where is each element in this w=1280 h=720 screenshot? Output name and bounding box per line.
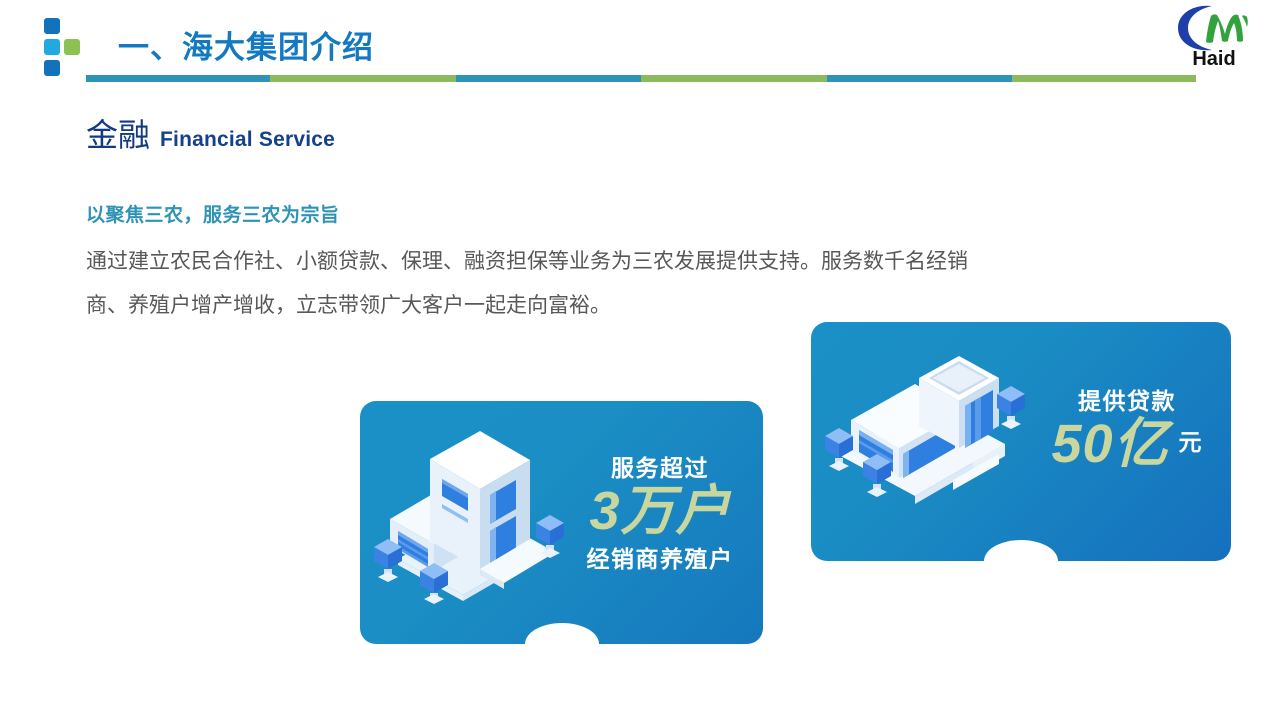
node-cube-left bbox=[374, 539, 402, 582]
card-loans-top-label: 提供贷款 bbox=[1027, 382, 1227, 416]
node-cube-left bbox=[825, 428, 853, 471]
card-dealers-text: 服务超过 3万户 经销商养殖户 bbox=[562, 449, 758, 574]
header-rule-segment-6 bbox=[1012, 75, 1196, 82]
stat-card-loans: 提供贷款 50亿元 bbox=[811, 322, 1231, 561]
isometric-tall-building-illustration bbox=[368, 419, 578, 604]
decorative-square-cluster bbox=[43, 18, 89, 76]
card-loans-number-value: 50亿 bbox=[1051, 414, 1168, 474]
square-bottom-icon bbox=[44, 60, 60, 76]
header-divider-rule bbox=[86, 75, 1196, 82]
square-top-icon bbox=[44, 18, 60, 34]
card-loans-notch bbox=[984, 540, 1058, 561]
card-dealers-bottom-label: 经销商养殖户 bbox=[562, 540, 758, 574]
header-rule-segment-3 bbox=[456, 75, 641, 82]
square-mid-right-icon bbox=[64, 39, 80, 55]
section-heading: 金融 Financial Service bbox=[86, 110, 335, 156]
body-lede: 以聚焦三农，服务三农为宗旨 bbox=[86, 200, 340, 227]
header-rule-segment-5 bbox=[827, 75, 1012, 82]
header-rule-segment-2 bbox=[270, 75, 456, 82]
body-paragraph: 通过建立农民合作社、小额贷款、保理、融资担保等业务为三农发展提供支持。服务数千名… bbox=[86, 240, 1126, 328]
node-cube-bottom bbox=[420, 563, 448, 604]
card-loans-number: 50亿元 bbox=[1027, 416, 1227, 473]
header-rule-segment-1 bbox=[86, 75, 270, 82]
page-header: 一、海大集团介绍 Haid bbox=[0, 0, 1280, 92]
paragraph-line-1: 通过建立农民合作社、小额贷款、保理、融资担保等业务为三农发展提供支持。服务数千名… bbox=[86, 240, 1126, 284]
stat-card-dealers: 服务超过 3万户 经销商养殖户 bbox=[360, 401, 763, 644]
isometric-wide-building-illustration bbox=[823, 344, 1033, 519]
section-heading-en: Financial Service bbox=[160, 128, 335, 152]
card-dealers-top-label: 服务超过 bbox=[562, 449, 758, 483]
node-cube-bottom bbox=[863, 454, 891, 497]
brand-logo: Haid bbox=[1168, 2, 1260, 76]
page-title: 一、海大集团介绍 bbox=[118, 22, 374, 67]
logo-wordmark: Haid bbox=[1168, 48, 1260, 71]
haid-logo-icon bbox=[1168, 2, 1260, 54]
header-rule-segment-4 bbox=[641, 75, 827, 82]
section-heading-cn: 金融 bbox=[86, 110, 150, 156]
card-dealers-notch bbox=[525, 623, 599, 644]
card-dealers-number: 3万户 bbox=[562, 483, 758, 540]
node-cube-right bbox=[997, 386, 1025, 429]
square-mid-left-icon bbox=[44, 39, 60, 55]
card-loans-unit: 元 bbox=[1179, 429, 1203, 455]
card-loans-text: 提供贷款 50亿元 bbox=[1027, 382, 1227, 473]
